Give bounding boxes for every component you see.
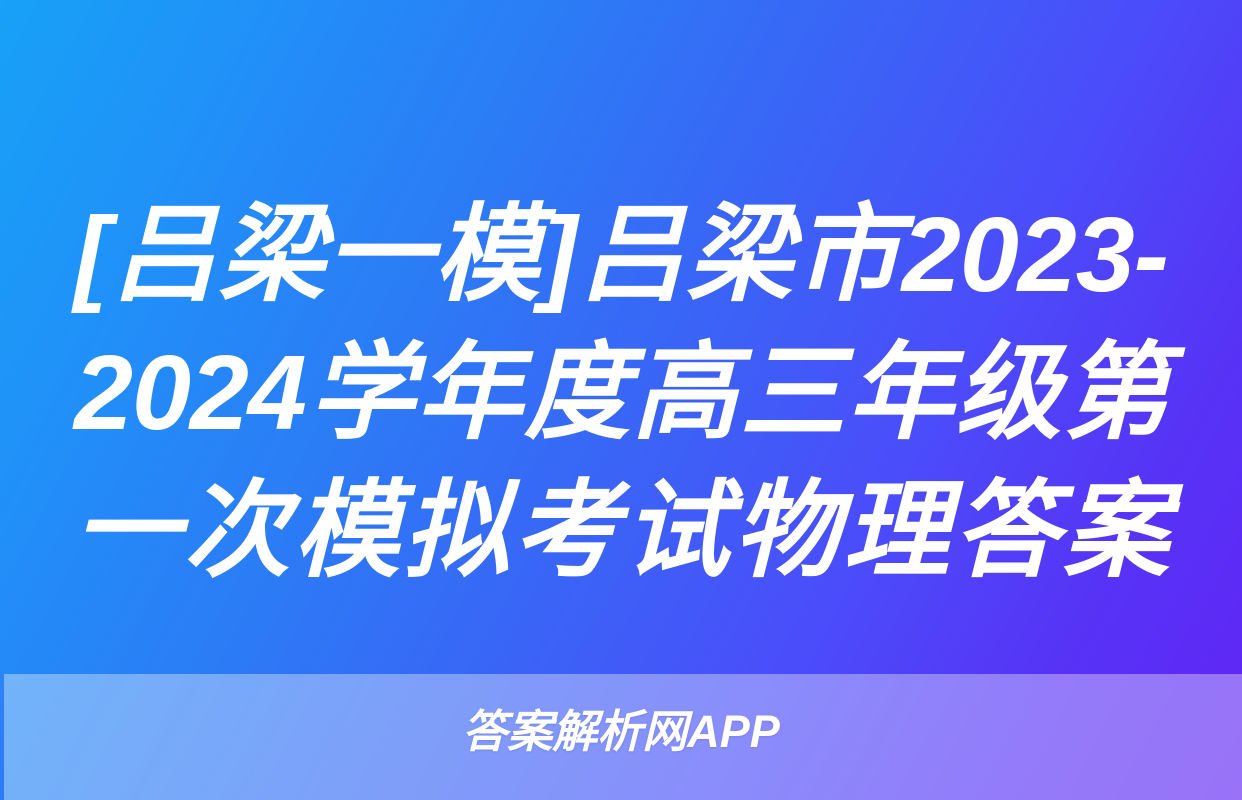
page-title: [吕梁一模]吕梁市2023- 2024学年度高三年级第 一次模拟考试物理答案 <box>74 186 1168 600</box>
page-title-line-3: 一次模拟考试物理答案 <box>74 462 1168 600</box>
poster-canvas: [吕梁一模]吕梁市2023- 2024学年度高三年级第 一次模拟考试物理答案 答… <box>0 0 1242 800</box>
app-watermark: 答案解析网APP <box>0 706 1242 758</box>
page-title-line-2: 2024学年度高三年级第 <box>74 324 1168 462</box>
page-title-line-1: [吕梁一模]吕梁市2023- <box>74 186 1168 324</box>
